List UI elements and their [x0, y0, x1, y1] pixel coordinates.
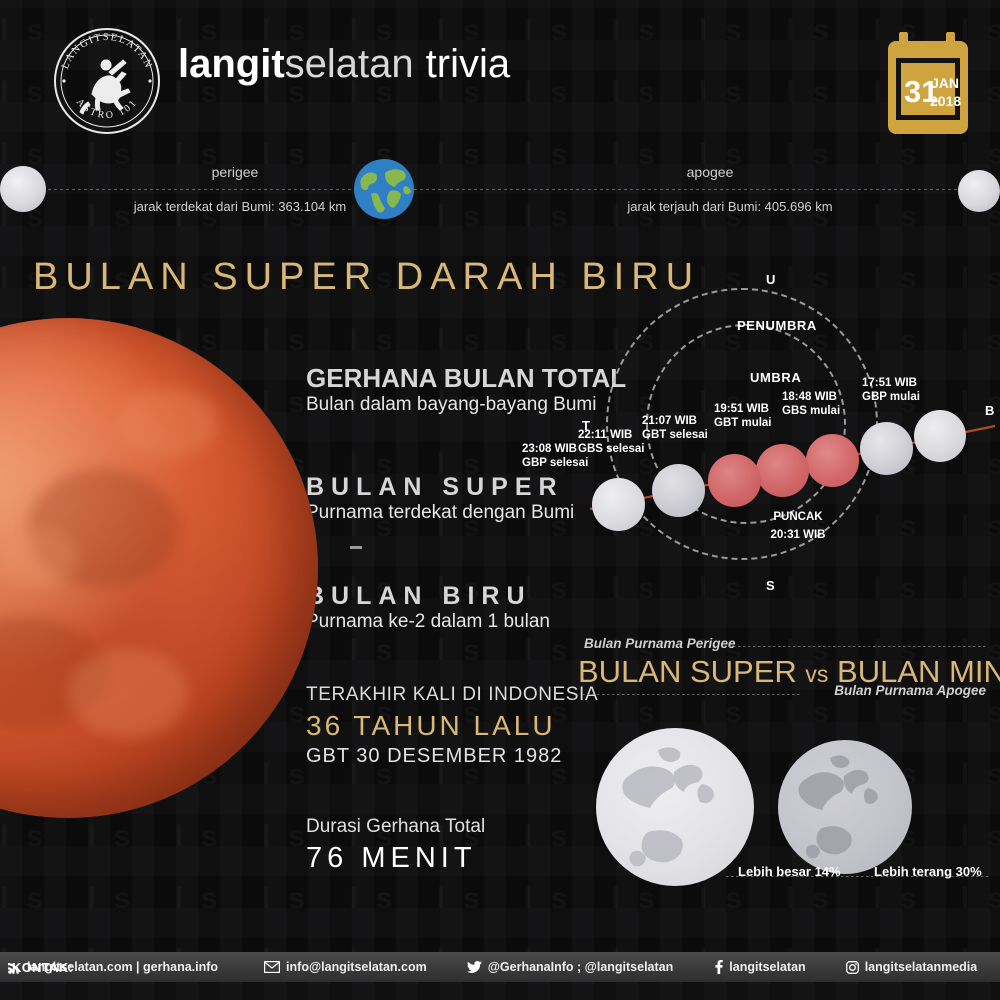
calendar-year: 2018: [930, 93, 961, 109]
phase-time: 19:51 WIB: [714, 402, 772, 416]
peak-caption: PUNCAK 20:31 WIB: [758, 510, 838, 542]
footer-item-facebook[interactable]: langitselatan: [715, 960, 805, 974]
phase-event: GBP selesai: [522, 456, 588, 470]
phase-caption-gbp-mulai: 17:51 WIB GBP mulai: [862, 376, 920, 404]
phase-event: GBT selesai: [642, 428, 708, 442]
mini-moon-disc: [778, 740, 912, 874]
perigee-moon-icon: [0, 166, 46, 212]
footer-item-twitter[interactable]: @GerhanaInfo ; @langitselatan: [467, 960, 674, 974]
apogee-label: apogee: [575, 164, 845, 180]
footer-text: info@langitselatan.com: [286, 960, 427, 974]
phase-event: GBS mulai: [782, 404, 840, 418]
compare-top-rule: [728, 646, 986, 647]
orbit-distance-line: [0, 188, 1000, 190]
super-vs-mini-panel: Bulan Purnama Perigee BULAN SUPER vs BUL…: [578, 636, 990, 886]
footer-item-instagram[interactable]: langitselatanmedia: [846, 960, 978, 974]
section-subtitle: Purnama ke-2 dalam 1 bulan: [306, 611, 550, 633]
email-icon: [264, 961, 280, 973]
phase-moon-puncak: [756, 444, 809, 497]
phase-moon-gbp-mulai: [914, 410, 966, 462]
section-subtitle: Purnama terdekat dengan Bumi: [306, 502, 574, 524]
facebook-icon: [715, 960, 723, 974]
phase-moon-gbt-selesai: [708, 454, 761, 507]
phase-caption-gbp-selesai: 23:08 WIB GBP selesai: [522, 442, 588, 470]
footer-text: langitselatanmedia: [865, 960, 978, 974]
footer-text: langitselatan: [729, 960, 805, 974]
brand-title: langitselatantrivia: [178, 42, 510, 87]
super-moon-disc: [596, 728, 754, 886]
footer-contact-bar: langitselatan.com | gerhana.info info@la…: [0, 952, 1000, 982]
instagram-icon: [846, 961, 859, 974]
twitter-icon: [467, 961, 482, 974]
brand-word: trivia: [426, 42, 510, 86]
calendar-month: JAN: [931, 75, 959, 91]
caption-lebih-besar: Lebih besar 14%: [738, 864, 841, 879]
langitselatan-logo: LANGITSELATAN ASTRO 101: [48, 22, 166, 140]
footer-kontak-label: KONTAK:: [12, 952, 73, 982]
apogee-moon-icon: [958, 170, 1000, 212]
phase-time: 21:07 WIB: [642, 414, 708, 428]
eclipse-path-diagram: U S T B PENUMBRA UMBRA 17:51 WIB GBP mul…: [560, 278, 1000, 608]
compare-bottom-rule: [582, 694, 800, 695]
caption-lebih-terang: Lebih terang 30%: [874, 864, 982, 879]
peak-label: PUNCAK: [758, 510, 838, 524]
phase-moon-gbt-mulai: [806, 434, 859, 487]
perigee-label: perigee: [100, 164, 370, 180]
phase-time: 18:48 WIB: [782, 390, 840, 404]
terakhir-line2: 36 TAHUN LALU: [306, 710, 598, 742]
footer-text: @GerhanaInfo ; @langitselatan: [488, 960, 674, 974]
terakhir-line1: TERAKHIR KALI DI INDONESIA: [306, 684, 598, 706]
compare-title-left: BULAN SUPER: [578, 654, 797, 689]
section-heading: BULAN BIRU: [306, 582, 550, 611]
section-heading: BULAN SUPER: [306, 473, 574, 502]
compare-bottom-label: Bulan Purnama Apogee: [834, 683, 986, 698]
section-bulan-super: BULAN SUPER Purnama terdekat dengan Bumi: [306, 473, 574, 524]
section-bulan-biru: BULAN BIRU Purnama ke-2 dalam 1 bulan: [306, 582, 550, 633]
section-durasi: Durasi Gerhana Total 76 MENIT: [306, 816, 485, 875]
brand-light: selatan: [285, 42, 414, 86]
phase-moon-gbs-selesai: [652, 464, 705, 517]
section-terakhir-kali: TERAKHIR KALI DI INDONESIA 36 TAHUN LALU…: [306, 684, 598, 768]
phase-event: GBP mulai: [862, 390, 920, 404]
compare-top-label: Bulan Purnama Perigee: [584, 636, 736, 651]
divider-dash: [350, 546, 362, 549]
phase-event: GBT mulai: [714, 416, 772, 430]
phase-time: 23:08 WIB: [522, 442, 588, 456]
footer-item-email[interactable]: info@langitselatan.com: [264, 960, 427, 974]
phase-moon-gbp-selesai: [592, 478, 645, 531]
peak-time: 20:31 WIB: [758, 528, 838, 542]
brand-bold: langit: [178, 42, 285, 86]
durasi-label: Durasi Gerhana Total: [306, 816, 485, 838]
phase-moon-gbs-mulai: [860, 422, 913, 475]
phase-time: 17:51 WIB: [862, 376, 920, 390]
perigee-distance: jarak terdekat dari Bumi: 363.104 km: [60, 199, 420, 214]
compare-title-vs: vs: [805, 661, 828, 687]
phase-time: 22:11 WIB: [578, 428, 644, 442]
phase-caption-gbt-selesai: 21:07 WIB GBT selesai: [642, 414, 708, 442]
phase-caption-gbs-mulai: 18:48 WIB GBS mulai: [782, 390, 840, 418]
calendar-icon: 31 JAN 2018: [886, 30, 970, 136]
durasi-value: 76 MENIT: [306, 842, 485, 875]
phase-caption-gbt-mulai: 19:51 WIB GBT mulai: [714, 402, 772, 430]
terakhir-line3: GBT 30 DESEMBER 1982: [306, 745, 598, 768]
apogee-distance: jarak terjauh dari Bumi: 405.696 km: [530, 199, 930, 214]
